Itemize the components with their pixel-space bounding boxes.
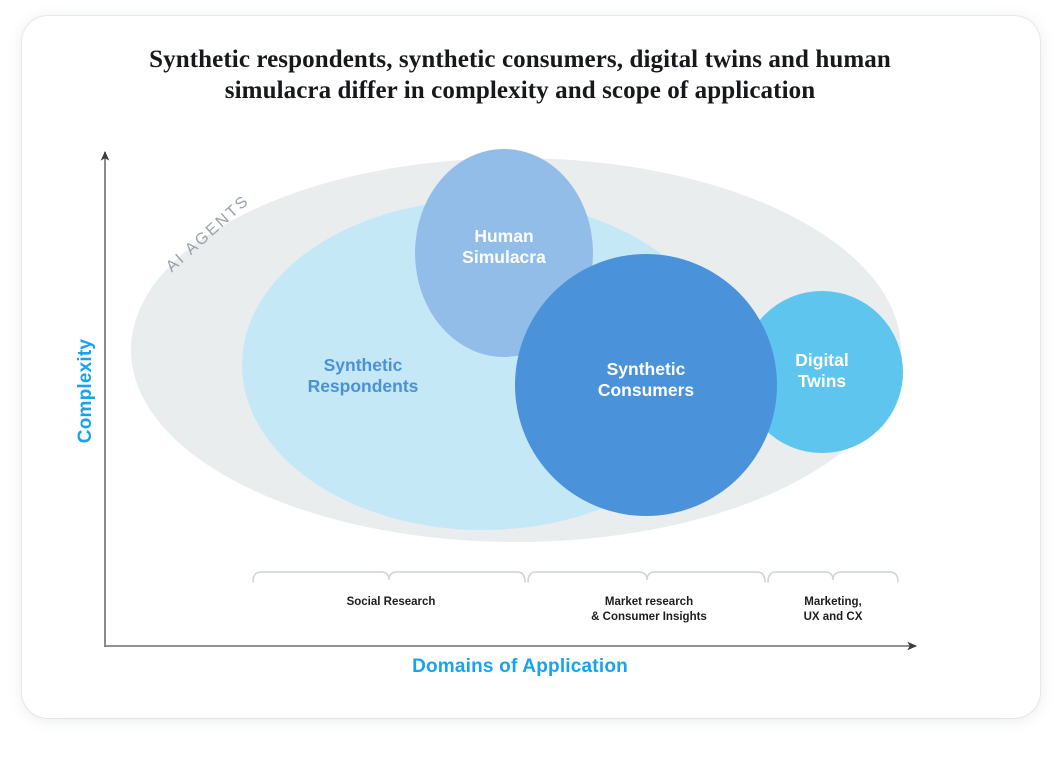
domain-bracket-marketing-ux-cx <box>768 572 898 582</box>
domain-label-market-research: Market research & Consumer Insights <box>547 595 751 624</box>
y-axis-title: Complexity <box>75 301 97 481</box>
domain-bracket-market-research <box>528 572 765 582</box>
bubble-synthetic-consumers <box>515 254 777 516</box>
x-axis-title: Domains of Application <box>300 656 740 678</box>
domain-label-social-research: Social Research <box>289 595 493 610</box>
domain-bracket-social-research <box>253 572 525 582</box>
domain-label-marketing-ux-cx: Marketing, UX and CX <box>731 595 935 624</box>
diagram-root: Synthetic respondents, synthetic consume… <box>0 0 1063 772</box>
